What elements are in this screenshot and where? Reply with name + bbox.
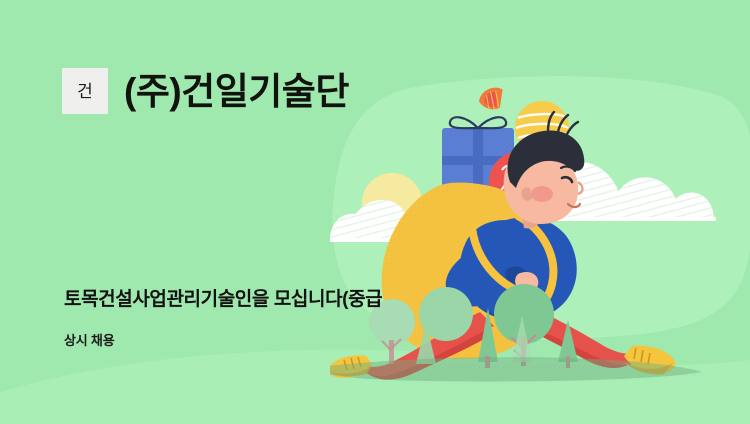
company-name: (주)건일기술단 <box>124 73 349 110</box>
illustration-running-person-with-gifts <box>330 70 750 424</box>
company-logo-text: 건 <box>77 83 93 100</box>
posting-copy: 토목건설사업관리기술인을 모십니다(중급 상시 채용 <box>64 288 750 350</box>
job-subtitle: 상시 채용 <box>64 333 750 350</box>
job-posting-banner: 건 (주)건일기술단 토목건설사업관리기술인을 모십니다(중급 상시 채용 <box>0 0 750 424</box>
company-logo-badge: 건 <box>62 68 108 114</box>
job-title: 토목건설사업관리기술인을 모십니다(중급 <box>64 288 750 313</box>
company-header: 건 (주)건일기술단 <box>62 68 349 114</box>
cheek-blush <box>531 186 553 202</box>
